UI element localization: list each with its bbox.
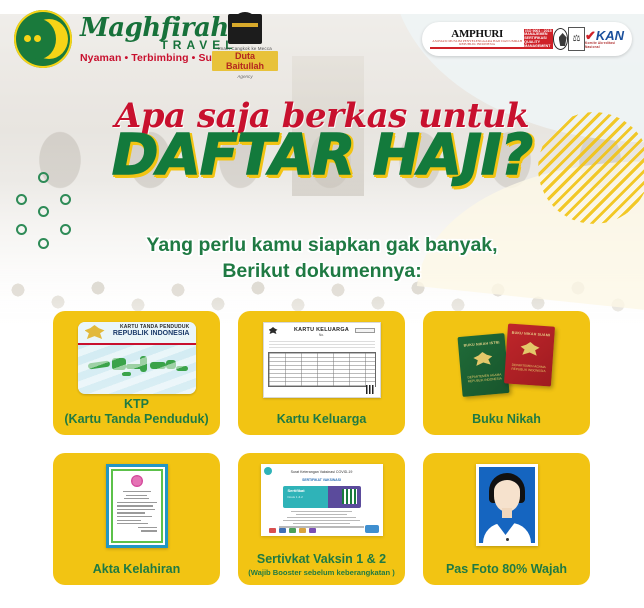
birth-certificate-icon — [106, 464, 168, 548]
document-card-akta-kelahiran[interactable]: Akta Kelahiran — [53, 453, 220, 585]
card-sublabel: (Wajib Booster sebelum keberangkatan ) — [248, 568, 395, 577]
card-art: Surat Keterangan Vaksinasi COVID-19 SERT… — [246, 464, 397, 536]
card-art — [61, 464, 212, 548]
card-label: Buku Nikah — [472, 412, 541, 427]
card-label-line-1: KTP — [64, 397, 208, 412]
family-card-icon: KARTU KELUARGA No. — [263, 322, 381, 398]
vaccine-panel-title: Sertifikat — [288, 488, 305, 493]
document-card-sertivkat-vaksin[interactable]: Surat Keterangan Vaksinasi COVID-19 SERT… — [238, 453, 405, 585]
vaccine-certificate-icon: Surat Keterangan Vaksinasi COVID-19 SERT… — [261, 464, 383, 536]
ktp-card-icon: KARTU TANDA PENDUDUK REPUBLIK INDONESIA — [78, 322, 196, 394]
book-dept-red: DEPARTEMEN AGAMA REPUBLIK INDONESIA — [504, 362, 551, 374]
garuda-icon — [472, 351, 492, 370]
badge-amphuri-sub: ASOSIASI MUSLIM PENYELENGGARA HAJI DAN U… — [430, 40, 524, 47]
document-grid: KARTU TANDA PENDUDUK REPUBLIK INDONESIA — [53, 311, 591, 585]
marriage-book-icon: BUKU NIKAH ISTRI DEPARTEMEN AGAMA REPUBL… — [448, 322, 566, 398]
badge-amphuri: AMPHURI ASOSIASI MUSLIM PENYELENGGARA HA… — [430, 29, 524, 50]
ktp-title-big: REPUBLIK INDONESIA — [113, 330, 190, 337]
partner-name: Duta Baitullah — [212, 51, 278, 71]
badge-iso: ISO 9001 : 2015 MANAJEMEN SERTIFIKASI QU… — [524, 29, 552, 49]
crescent-logo-icon — [14, 10, 72, 68]
book-title-green: BUKU NIKAH ISTRI — [463, 341, 499, 348]
vaccine-info-panel: Sertifikat Dosis 1 & 2 — [283, 486, 361, 508]
neck-shape — [502, 508, 512, 518]
badge-kan: ✔KAN Komite Akreditasi Nasional — [585, 29, 624, 48]
document-card-kartu-keluarga[interactable]: KARTU KELUARGA No. Kartu Keluarga — [238, 311, 405, 435]
card-art: KARTU TANDA PENDUDUK REPUBLIK INDONESIA — [61, 322, 212, 394]
partner-caption-bottom: Agency — [212, 74, 278, 79]
card-art — [431, 464, 582, 546]
vaccine-subtitle: SERTIFIKAT VAKSINASI — [267, 478, 377, 482]
badge-standard-mark: ⚖ — [568, 27, 585, 51]
card-art: KARTU KELUARGA No. — [246, 322, 397, 398]
garuda-icon — [519, 341, 539, 359]
logo-badge-icon — [264, 467, 272, 475]
agency-logos — [269, 528, 316, 533]
qr-code-icon — [366, 385, 375, 394]
official-seal-icon — [131, 475, 143, 487]
document-card-buku-nikah[interactable]: BUKU NIKAH ISTRI DEPARTEMEN AGAMA REPUBL… — [423, 311, 590, 435]
card-label: Kartu Keluarga — [277, 412, 367, 427]
poster-canvas: Maghfirah® TRAVEL Nyaman • Terbimbing • … — [0, 0, 644, 608]
partner-logo-duta-baitullah[interactable]: Imam Cangkok ke Mecca Duta Baitullah Age… — [212, 12, 278, 66]
card-label-line-1: Kartu Keluarga — [277, 412, 367, 427]
vaccine-panel-meta: Dosis 1 & 2 — [288, 495, 303, 499]
document-card-ktp[interactable]: KARTU TANDA PENDUDUK REPUBLIK INDONESIA — [53, 311, 220, 435]
card-label-line-1: Akta Kelahiran — [93, 562, 181, 577]
kk-subtitle: No. — [268, 333, 376, 337]
card-label-line-1: Buku Nikah — [472, 412, 541, 427]
partner-name-a: Duta — [235, 51, 255, 61]
button-dot — [506, 538, 509, 541]
card-label-line-1: Sertivkat Vaksin 1 & 2 — [257, 552, 386, 567]
subtitle-line-2: Berikut dokumennya: — [0, 258, 644, 284]
vaccine-title: Surat Keterangan Vaksinasi COVID-19 — [267, 470, 377, 474]
badge-iso-line3: QUALITY MANAGEMENT — [524, 41, 552, 49]
qr-code-icon — [342, 489, 357, 504]
badge-amphuri-name: AMPHURI — [451, 28, 503, 40]
book-dept-green: DEPARTEMEN AGAMA REPUBLIK INDONESIA — [460, 372, 508, 384]
headline: Apa saja berkas untuk DAFTAR HAJI? — [0, 96, 644, 182]
card-label: KTP (Kartu Tanda Penduduk) — [64, 397, 208, 427]
book-title-red: BUKU NIKAH SUAMI — [511, 331, 550, 338]
kaaba-icon — [228, 14, 262, 44]
vehicle-icon — [365, 525, 379, 533]
subtitle: Yang perlu kamu siapkan gak banyak, Beri… — [0, 232, 644, 285]
card-label-line-2: (Kartu Tanda Penduduk) — [64, 412, 208, 427]
card-label: Akta Kelahiran — [93, 562, 181, 577]
card-label: Pas Foto 80% Wajah — [446, 562, 567, 577]
marriage-book-wife: BUKU NIKAH ISTRI DEPARTEMEN AGAMA REPUBL… — [457, 333, 509, 397]
card-label: Sertivkat Vaksin 1 & 2 — [257, 552, 386, 567]
badge-seal-emblem — [553, 28, 568, 50]
passport-photo-icon — [476, 464, 538, 546]
card-label-line-1: Pas Foto 80% Wajah — [446, 562, 567, 577]
accreditation-bar: AMPHURI ASOSIASI MUSLIM PENYELENGGARA HA… — [422, 22, 632, 56]
card-art: BUKU NIKAH ISTRI DEPARTEMEN AGAMA REPUBL… — [431, 322, 582, 398]
marriage-book-husband: BUKU NIKAH SUAMI DEPARTEMEN AGAMA REPUBL… — [503, 323, 554, 386]
document-card-pas-foto[interactable]: Pas Foto 80% Wajah — [423, 453, 590, 585]
header: Maghfirah® TRAVEL Nyaman • Terbimbing • … — [0, 0, 644, 82]
partner-name-b: Baitullah — [226, 61, 264, 71]
headline-line-2: DAFTAR HAJI? — [0, 130, 644, 182]
subtitle-line-1: Yang perlu kamu siapkan gak banyak, — [0, 232, 644, 258]
brand-logo[interactable]: Maghfirah® TRAVEL Nyaman • Terbimbing • … — [14, 10, 238, 68]
